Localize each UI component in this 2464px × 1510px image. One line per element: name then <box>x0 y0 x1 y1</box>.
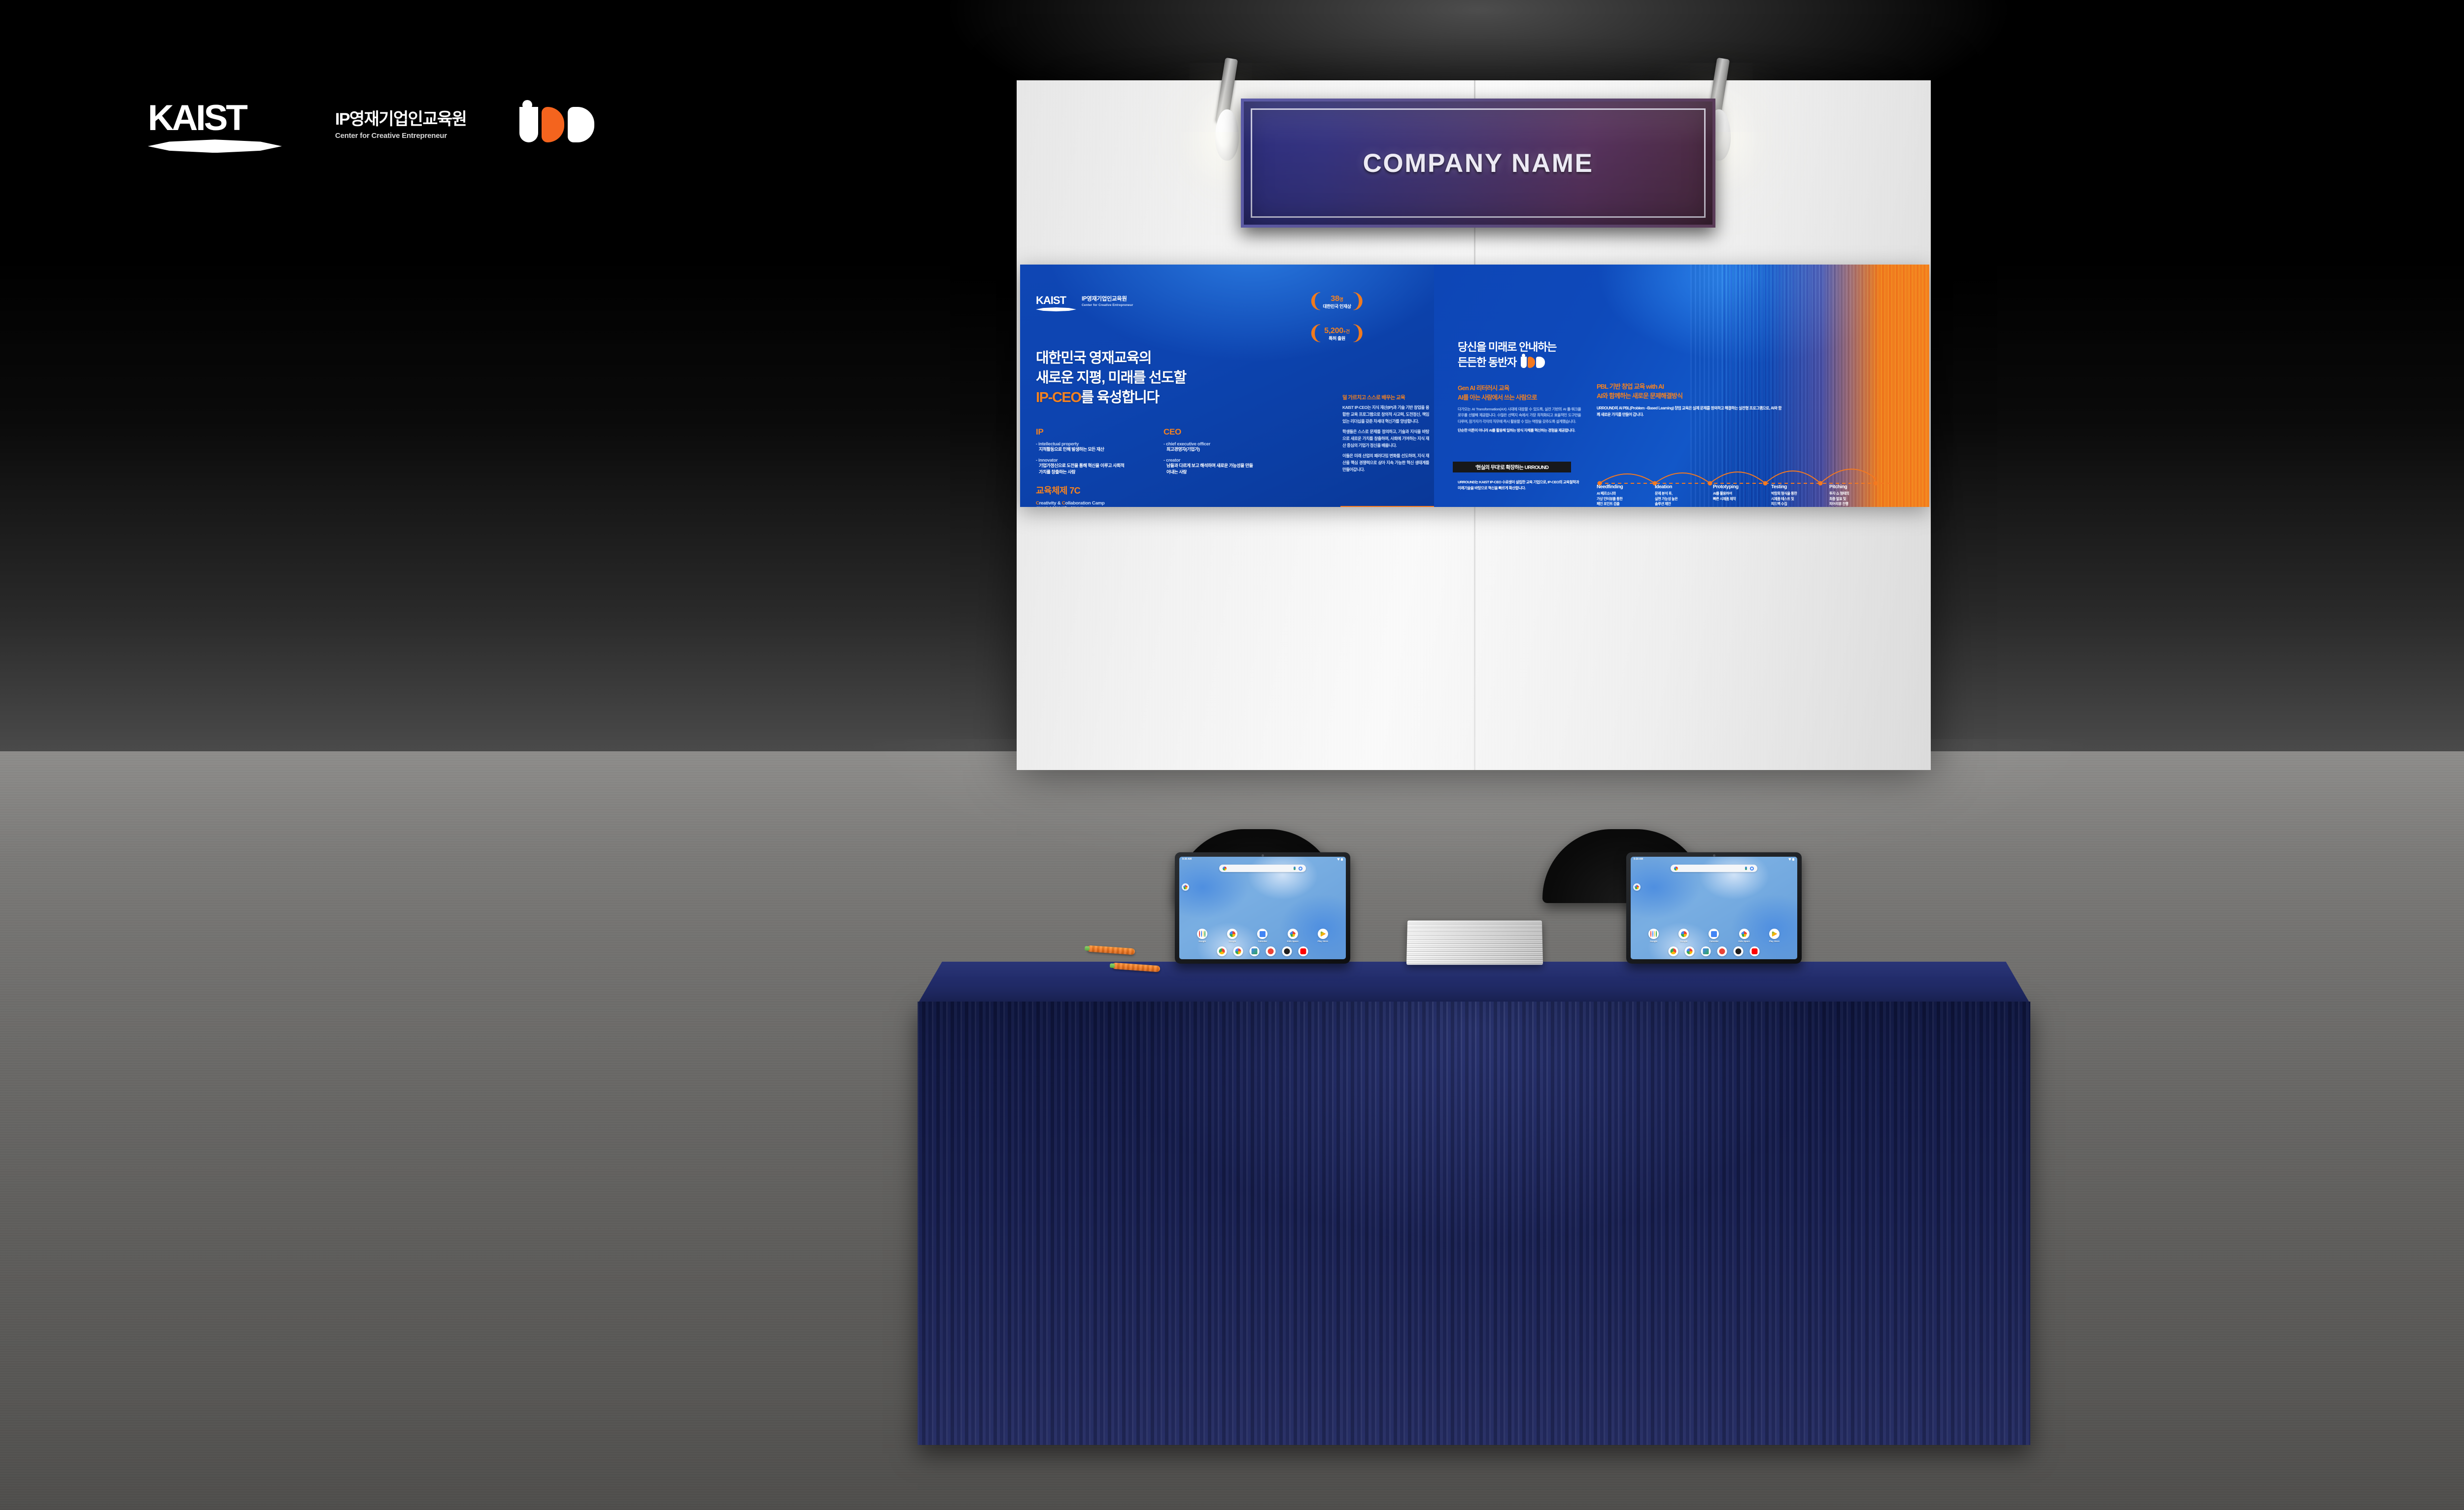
home-app-row: Google Google Calendar Kids Space Play S… <box>1179 929 1346 942</box>
definition-ceo: CEO - chief executive officer 최고경영자(기업가)… <box>1164 427 1255 476</box>
table-skirt <box>918 1002 2030 1445</box>
headline-line-1: 대한민국 영재교육의 <box>1036 348 1292 368</box>
booth-scene: KAIST IP영재기업인교육원 Center for Creative Ent… <box>0 0 2464 1510</box>
pinwheel-shortcut-icon[interactable] <box>1182 883 1189 891</box>
kaist-swoosh-icon <box>148 139 282 153</box>
google-g-icon <box>1223 867 1227 871</box>
company-name-text: COMPANY NAME <box>1363 148 1594 178</box>
google-lens-icon[interactable] <box>1750 867 1754 871</box>
camera-icon[interactable] <box>1282 946 1292 956</box>
banner-headline: 대한민국 영재교육의 새로운 지평, 미래를 선도할 IP-CEO를 육성합니다 <box>1036 348 1292 407</box>
status-system-icons <box>1788 858 1794 861</box>
google-folder-icon <box>1197 929 1207 939</box>
banner-panel-right: 당신을 미래로 안내하는 든든한 동반자 Gen AI 리터러시 교육 AI를 … <box>1434 265 1929 507</box>
app-play-store[interactable]: Play Store <box>1765 929 1783 942</box>
laurel-right-icon: ❨ <box>1350 291 1367 311</box>
pbl-heading-line-1: PBL 기반 창업 교육 with AI <box>1597 382 1892 391</box>
chrome-icon[interactable] <box>1217 946 1227 956</box>
banner-center-name: IP영재기업인교육원 Center for Creative Entrepren… <box>1082 295 1133 307</box>
app-label: Calendar <box>1253 940 1272 942</box>
photos-icon[interactable] <box>1233 946 1243 956</box>
body-heading: 덜 가르치고 스스로 배우는 교육 <box>1342 394 1429 401</box>
google-lens-icon[interactable] <box>1299 867 1302 871</box>
status-clock: 9:30 AM <box>1182 858 1192 861</box>
definition-term: - creator <box>1164 458 1255 463</box>
microphone-icon[interactable] <box>1294 867 1296 870</box>
center-name-ko: IP영재기업인교육원 <box>335 110 466 129</box>
right-headline-line-1: 당신을 미래로 안내하는 <box>1458 339 1665 355</box>
kaist-logo: KAIST <box>148 102 282 153</box>
google-g-icon <box>1227 929 1237 939</box>
app-label: Play Store <box>1765 940 1783 942</box>
urround-logo-icon <box>1521 357 1545 369</box>
stage-name: Pitching <box>1829 484 1887 490</box>
definition-title: IP <box>1036 427 1127 437</box>
app-label: Play Store <box>1313 940 1332 942</box>
definition-term: - intellectual property <box>1036 441 1127 446</box>
wifi-icon <box>1788 858 1791 861</box>
meet-icon[interactable] <box>1266 946 1276 956</box>
youtube-icon[interactable] <box>1750 946 1760 956</box>
gen-ai-paragraph: 다가오는 AI Transformation(AX) 시대에 대응할 수 있도록… <box>1458 406 1581 425</box>
right-headline-line-2: 든든한 동반자 <box>1458 355 1516 370</box>
app-label: Google <box>1644 940 1663 942</box>
banner-center-name-en: Center for Creative Entrepreneur <box>1082 303 1133 307</box>
photos-icon[interactable] <box>1685 946 1695 956</box>
stage-desc: AI를 활용하여 빠른 시제품 제작 <box>1713 491 1771 502</box>
right-headline: 당신을 미래로 안내하는 든든한 동반자 <box>1458 339 1665 370</box>
tablet-screen[interactable]: 9:30 AM Google Google <box>1179 857 1346 959</box>
app-calendar[interactable]: Calendar <box>1705 929 1723 942</box>
meet-icon[interactable] <box>1717 946 1727 956</box>
definition-term: - innovator <box>1036 458 1127 463</box>
battery-icon <box>1792 858 1794 861</box>
laurel-right-icon: ❨ <box>1350 323 1367 343</box>
app-play-store[interactable]: Play Store <box>1313 929 1332 942</box>
center-name-block: IP영재기업인교육원 Center for Creative Entrepren… <box>335 110 466 145</box>
status-system-icons <box>1337 858 1343 861</box>
tablet-screen[interactable]: 9:30 AM Google Google <box>1631 857 1797 959</box>
urround-logo-icon <box>519 109 594 146</box>
spotlight-head-icon <box>1215 109 1239 161</box>
badge-number: 5,200 <box>1324 327 1343 335</box>
calendar-icon <box>1709 929 1719 939</box>
kaist-wordmark: KAIST <box>148 102 282 134</box>
pipeline-stage: Ideation 문제 분석 후, 실현 가능성 높은 솔루션 제안 <box>1655 484 1713 507</box>
badge-talent-award: ❨ ❨ 38명 대한민국 인재상 <box>1308 290 1366 314</box>
gen-ai-paragraph: 단순한 이론이 아니라 AI를 활용해 일하는 방식 자체를 혁신하는 경험을 … <box>1458 428 1581 434</box>
banner-kaist-wordmark: KAIST <box>1036 295 1076 306</box>
urround-stage-label: '현실의 무대'로 확장하는 URROUND <box>1475 464 1549 471</box>
definition-title: CEO <box>1164 427 1255 437</box>
definition-term: - chief executive officer <box>1164 441 1255 446</box>
banner-panel-left: KAIST IP영재기업인교육원 Center for Creative Ent… <box>1020 265 1434 507</box>
definition-desc: 남들과 다르게 보고 해석하며 새로운 가능성을 만들어내는 사람 <box>1164 463 1255 476</box>
urround-u-glyph <box>1521 357 1527 368</box>
badge-patent-filings: ❨ ❨ 5,200+건 특허 출원 <box>1308 322 1366 346</box>
company-name-sign: COMPANY NAME <box>1241 99 1715 228</box>
app-label: Google <box>1223 940 1242 942</box>
tablet-left[interactable]: 9:30 AM Google Google <box>1175 852 1350 964</box>
microphone-icon[interactable] <box>1745 867 1747 870</box>
camera-icon[interactable] <box>1734 946 1744 956</box>
badge-caption: 대한민국 인재상 <box>1323 304 1351 309</box>
laurel-left-icon: ❨ <box>1307 291 1324 311</box>
app-label: Kids Space <box>1283 940 1302 942</box>
battery-icon <box>1341 858 1343 861</box>
gen-ai-paragraphs: 다가오는 AI Transformation(AX) 시대에 대응할 수 있도록… <box>1458 406 1581 436</box>
app-kids-space[interactable]: Kids Space <box>1283 929 1302 942</box>
left-panel-body-text: 덜 가르치고 스스로 배우는 교육 KAIST IP-CEO는 지식 재산(IP… <box>1342 394 1429 473</box>
play-store-icon <box>1318 929 1328 939</box>
body-paragraph: KAIST IP-CEO는 지식 재산(IP)과 기술 기반 창업을 융합한 교… <box>1342 404 1429 425</box>
status-bar: 9:30 AM <box>1179 857 1346 862</box>
badge-number: 38 <box>1331 295 1339 303</box>
headline-highlight: IP-CEO <box>1036 390 1081 405</box>
app-google-folder[interactable]: Google <box>1644 929 1663 942</box>
kids-space-icon <box>1288 929 1298 939</box>
organization-logo-bar: KAIST IP영재기업인교육원 Center for Creative Ent… <box>148 102 594 153</box>
urround-r-glyph <box>542 107 564 142</box>
stage-name: Testing <box>1771 484 1829 490</box>
seven-c-item: Creativity & Collaboration Camp 창조성과 협력성… <box>1036 501 1158 507</box>
app-calendar[interactable]: Calendar <box>1253 929 1272 942</box>
booth-banner: KAIST IP영재기업인교육원 Center for Creative Ent… <box>1020 265 1929 507</box>
gmail-icon[interactable] <box>1250 946 1260 956</box>
definitions-block: IP - intellectual property 지적활동으로 인해 발생하… <box>1036 427 1255 476</box>
urround-r-glyph <box>1528 357 1535 368</box>
kaist-mark: KAIST <box>1036 295 1076 311</box>
stage-desc: 박람회 형식을 통한 시제품 테스트 및 피드백 수집 <box>1771 491 1829 507</box>
definition-desc: 지적활동으로 인해 발생하는 모든 재산 <box>1036 446 1127 453</box>
banner-center-name-ko: IP영재기업인교육원 <box>1082 296 1133 302</box>
headline-line-3: IP-CEO를 육성합니다 <box>1036 388 1292 407</box>
education-philosophy-bar: IP-CEO의 교육 철학을 <box>1340 506 1434 507</box>
achievement-badges: ❨ ❨ 38명 대한민국 인재상 ❨ ❨ 5,200+건 특허 출원 <box>1308 290 1366 346</box>
brochure-stack[interactable] <box>1406 920 1543 965</box>
urround-description: URROUND는 KAIST IP-CEO 수료생이 설립한 교육 기업으로, … <box>1458 479 1580 493</box>
badge-unit: 명 <box>1339 297 1343 302</box>
wifi-icon <box>1337 858 1340 861</box>
play-store-icon <box>1769 929 1780 939</box>
calendar-icon <box>1257 929 1267 939</box>
seven-c-body: 창조성과 협력성을 기준으로 학생선발 C&C 캠프 <box>1036 506 1158 507</box>
body-paragraph: 학생들은 스스로 문제를 정의하고, 기술과 지식을 바탕으로 새로운 가치를 … <box>1342 429 1429 449</box>
seven-c-title: 교육체제 7C <box>1036 484 1332 497</box>
headline-line-2: 새로운 지평, 미래를 선도할 <box>1036 368 1292 388</box>
stage-desc: 투자 쇼 형태의 최종 발표 및 피어리뷰 진행 <box>1829 491 1887 507</box>
definition-desc: 최고경영자(기업가) <box>1164 446 1255 453</box>
urround-paragraph: URROUND는 KAIST IP-CEO 수료생이 설립한 교육 기업으로, … <box>1458 479 1580 491</box>
app-google[interactable]: Google <box>1675 929 1693 942</box>
definition-desc: 기업가정신으로 도전을 통해 혁신을 이루고 사회적 가치를 창출하는 사람 <box>1036 463 1127 476</box>
seven-c-column-2: Community & Mentoring 전문가 멘토링 및 학습 커뮤니티 … <box>1195 501 1317 507</box>
google-search-bar[interactable] <box>1671 865 1757 872</box>
pipeline-stage: Testing 박람회 형식을 통한 시제품 테스트 및 피드백 수집 <box>1771 484 1829 507</box>
app-label: Calendar <box>1705 940 1723 942</box>
pipeline-stage: Pitching 투자 쇼 형태의 최종 발표 및 피어리뷰 진행 <box>1829 484 1887 507</box>
kaist-swoosh-icon <box>1036 307 1076 311</box>
status-clock: 9:30 AM <box>1634 858 1643 861</box>
status-bar: 9:30 AM <box>1631 857 1797 862</box>
urround-d-glyph <box>568 107 594 142</box>
google-g-icon <box>1678 929 1689 939</box>
stage-desc: 문제 분석 후, 실현 가능성 높은 솔루션 제안 <box>1655 491 1713 507</box>
banner-kaist-lockup: KAIST IP영재기업인교육원 Center for Creative Ent… <box>1036 295 1133 311</box>
badge-unit: +건 <box>1343 329 1350 334</box>
center-name-en: Center for Creative Entrepreneur <box>335 132 466 140</box>
urround-stage-bar: '현실의 무대'로 확장하는 URROUND <box>1453 462 1571 472</box>
stage-name: Needfinding <box>1597 484 1655 490</box>
app-label: Google <box>1193 940 1212 942</box>
kids-space-icon <box>1739 929 1749 939</box>
pbl-section: PBL 기반 창업 교육 with AI AI와 함께하는 새로운 문제해결방식… <box>1597 382 1892 418</box>
seven-c-column-1: Creativity & Collaboration Camp 창조성과 협력성… <box>1036 501 1158 507</box>
stage-name: Ideation <box>1655 484 1713 490</box>
tablet-dock <box>1669 946 1760 956</box>
gmail-icon[interactable] <box>1701 946 1711 956</box>
app-label: Kids Space <box>1735 940 1753 942</box>
home-app-row: Google Google Calendar Kids Space Play S… <box>1631 929 1797 942</box>
google-g-icon <box>1674 867 1678 871</box>
seven-c-framework: 교육체제 7C Creativity & Collaboration Camp … <box>1036 484 1332 507</box>
urround-d-glyph <box>1536 357 1545 368</box>
spotlight-left <box>1212 58 1242 171</box>
stage-name: Prototyping <box>1713 484 1771 490</box>
headline-tail: 를 육성합니다 <box>1081 390 1159 405</box>
pbl-heading-line-2: AI와 함께하는 새로운 문제해결방식 <box>1597 391 1892 401</box>
tablet-dock <box>1217 946 1308 956</box>
app-kids-space[interactable]: Kids Space <box>1735 929 1753 942</box>
app-google[interactable]: Google <box>1223 929 1242 942</box>
pbl-paragraph: URROUND의 AI PBL(Problem −Based Learning)… <box>1597 405 1784 418</box>
stage-desc: AI 페르소나와 가상 인터뷰를 통한 페인 포인트 검출 <box>1597 491 1655 507</box>
badge-caption: 특허 출원 <box>1324 336 1349 341</box>
google-folder-icon <box>1648 929 1659 939</box>
pinwheel-shortcut-icon[interactable] <box>1633 883 1641 891</box>
pipeline-stage: Needfinding AI 페르소나와 가상 인터뷰를 통한 페인 포인트 검… <box>1597 484 1655 507</box>
chrome-icon[interactable] <box>1669 946 1678 956</box>
app-google-folder[interactable]: Google <box>1193 929 1212 942</box>
google-search-bar[interactable] <box>1219 865 1306 872</box>
definition-ip: IP - intellectual property 지적활동으로 인해 발생하… <box>1036 427 1127 476</box>
urround-u-glyph <box>519 107 538 142</box>
pipeline-stage: Prototyping AI를 활용하여 빠른 시제품 제작 <box>1713 484 1771 507</box>
laurel-left-icon: ❨ <box>1307 323 1324 343</box>
app-label: Google <box>1675 940 1693 942</box>
body-paragraph: 이들은 미래 산업의 패러다임 변화를 선도하며, 지식 재산을 핵심 경쟁력으… <box>1342 453 1429 473</box>
table-top <box>918 962 2030 1004</box>
tablet-right[interactable]: 9:30 AM Google Google <box>1626 852 1802 964</box>
youtube-icon[interactable] <box>1299 946 1308 956</box>
pbl-process-pipeline: Needfinding AI 페르소나와 가상 인터뷰를 통한 페인 포인트 검… <box>1597 457 1892 507</box>
